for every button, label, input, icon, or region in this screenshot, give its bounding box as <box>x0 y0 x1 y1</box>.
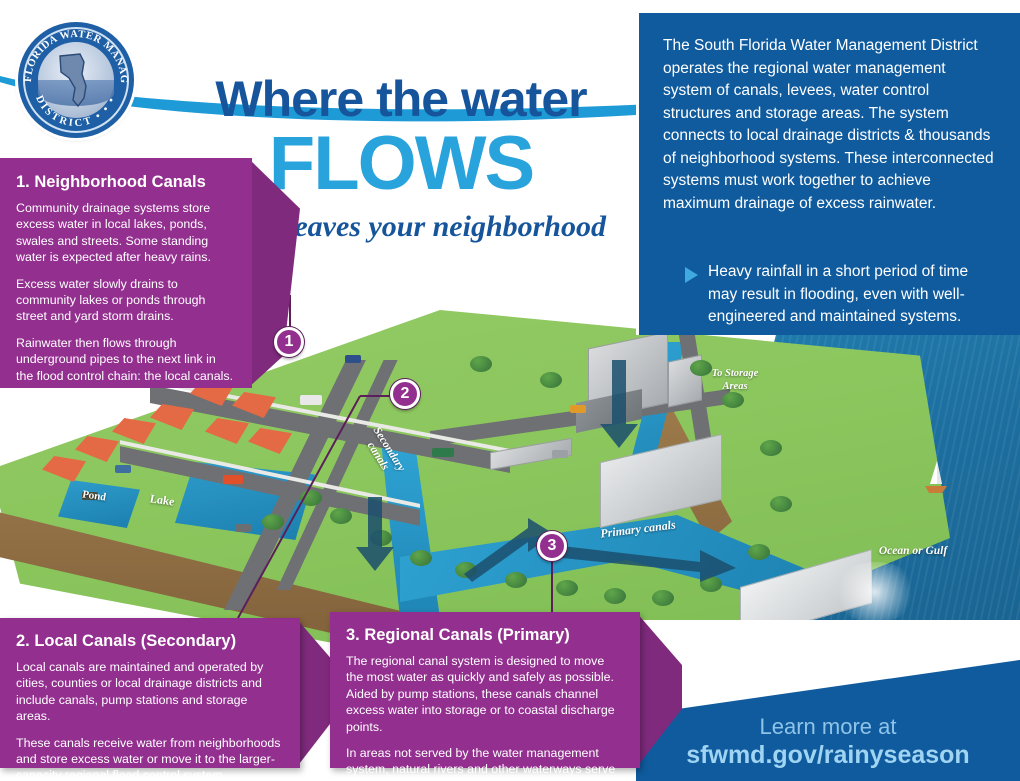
map-marker-2-label: 2 <box>401 385 410 403</box>
map-label-ocean-or-gulf: Ocean or Gulf <box>858 545 968 557</box>
tree <box>604 588 626 604</box>
map-marker-2[interactable]: 2 <box>390 379 420 409</box>
intro-panel: The South Florida Water Management Distr… <box>636 10 1020 335</box>
callout-3-title: 3. Regional Canals (Primary) <box>346 625 624 645</box>
seal-lettering: SOUTH FLORIDA WATER MANAGEMENT DISTRICT … <box>18 22 134 138</box>
triangle-bullet-icon <box>685 267 698 283</box>
intro-bullet-row: Heavy rainfall in a short period of time… <box>685 261 998 329</box>
vehicle-car <box>552 450 568 458</box>
leader-line-3 <box>551 560 553 618</box>
map-marker-1-label: 1 <box>285 333 294 351</box>
callout-2-title: 2. Local Canals (Secondary) <box>16 631 284 651</box>
tree <box>540 372 562 388</box>
callout-2-paragraph-1: Local canals are maintained and operated… <box>16 659 284 725</box>
sailboat-icon <box>920 460 950 496</box>
discharge-foam <box>830 562 920 622</box>
callout-3-regional-canals: 3. Regional Canals (Primary) The regiona… <box>330 612 640 768</box>
learn-more-label: Learn more at <box>636 714 1020 740</box>
tree <box>410 550 432 566</box>
callout-1-paragraph-3: Rainwater then flows through underground… <box>16 335 236 384</box>
callout-1-paragraph-1: Community drainage systems store excess … <box>16 200 236 266</box>
svg-text:DISTRICT • • •: DISTRICT • • • <box>33 94 119 129</box>
vehicle-bus <box>432 448 454 457</box>
tree <box>652 590 674 606</box>
callout-3-paragraph-1: The regional canal system is designed to… <box>346 653 624 735</box>
intro-text-block: The South Florida Water Management Distr… <box>663 35 996 215</box>
intro-paragraph: The South Florida Water Management Distr… <box>663 35 996 215</box>
callout-2-paragraph-2: These canals receive water from neighbor… <box>16 735 284 781</box>
vehicle-car <box>570 405 586 413</box>
title-line-1: Where the water <box>186 72 616 126</box>
map-marker-3-label: 3 <box>548 537 557 555</box>
learn-more-block: Learn more at sfwmd.gov/rainyseason <box>636 714 1020 770</box>
svg-text:SOUTH FLORIDA WATER MANAGEMENT: SOUTH FLORIDA WATER MANAGEMENT <box>18 22 129 84</box>
map-marker-1[interactable]: 1 <box>274 327 304 357</box>
tree <box>770 496 792 512</box>
intro-bullet-text: Heavy rainfall in a short period of time… <box>708 261 998 329</box>
leader-line-2 <box>230 350 410 630</box>
tree <box>470 356 492 372</box>
storage-flow-arrow-icon <box>598 358 642 452</box>
sfwmd-seal-logo: SOUTH FLORIDA WATER MANAGEMENT DISTRICT … <box>18 22 134 138</box>
callout-3-paragraph-2: In areas not served by the water managem… <box>346 745 624 781</box>
website-url[interactable]: sfwmd.gov/rainyseason <box>636 740 1020 770</box>
callout-1-paragraph-2: Excess water slowly drains to community … <box>16 276 236 325</box>
map-marker-3[interactable]: 3 <box>537 531 567 561</box>
tree <box>760 440 782 456</box>
infographic-poster: Pond Lake Secondary canals Primary canal… <box>0 0 1020 781</box>
callout-1-title: 1. Neighborhood Canals <box>16 172 236 192</box>
vehicle-car <box>115 465 131 473</box>
tree <box>748 544 770 560</box>
callout-1-neighborhood-canals: 1. Neighborhood Canals Community drainag… <box>0 158 252 388</box>
callout-2-local-canals: 2. Local Canals (Secondary) Local canals… <box>0 618 300 768</box>
map-label-to-storage-areas: To Storage Areas <box>692 368 778 393</box>
tree <box>722 392 744 408</box>
